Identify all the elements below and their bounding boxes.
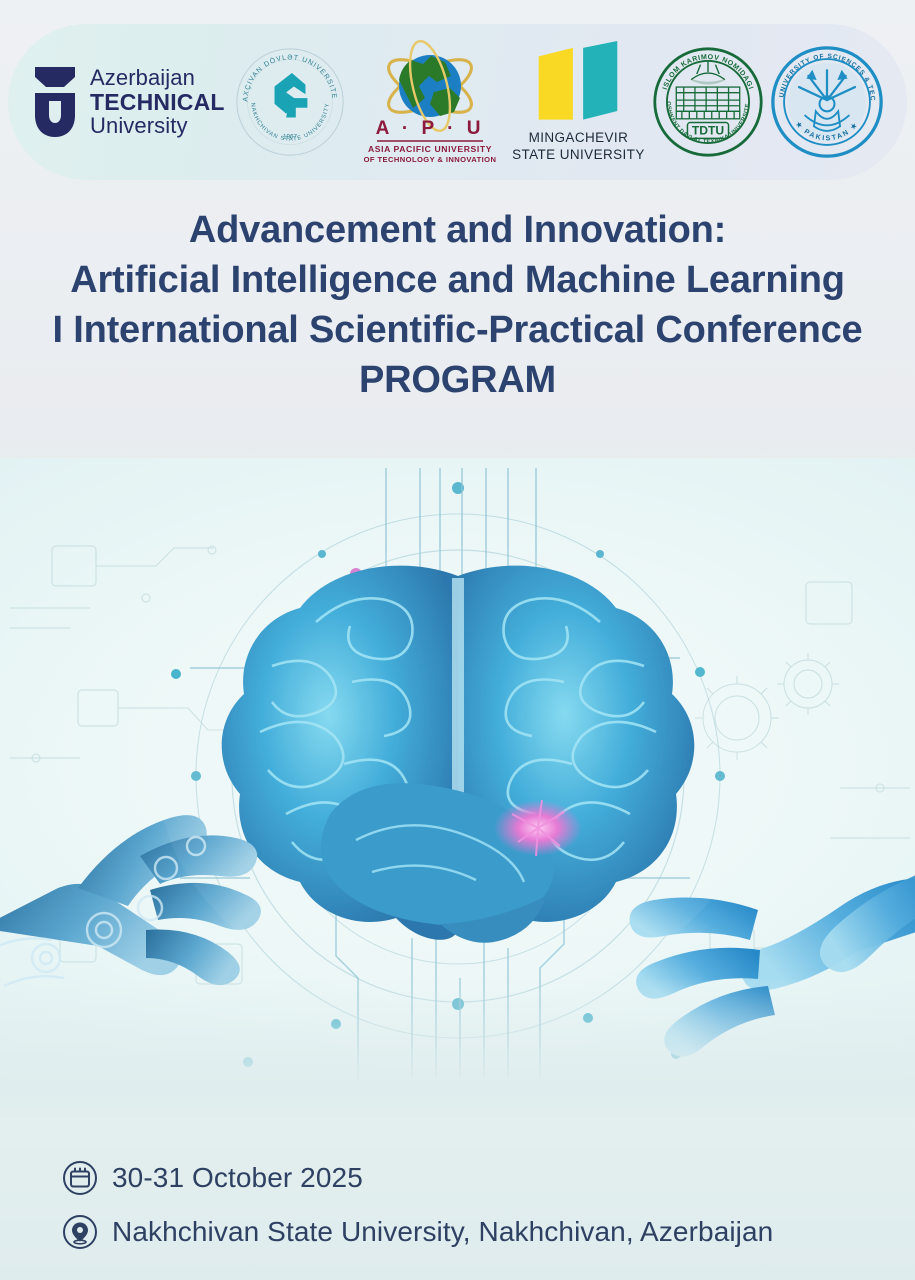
nust-seal-icon: NATIONAL UNIVERSITY OF SCIENCES & TECHNO… <box>771 46 883 158</box>
mgu-line-1: MINGACHEVIR <box>529 130 629 145</box>
atu-line-1: Azerbaijan <box>90 65 195 90</box>
title-line-1: Advancement and Innovation: <box>14 205 901 255</box>
apu-line-2: OF TECHNOLOGY & INNOVATION <box>364 155 497 164</box>
tdtu-acronym: TDTU <box>692 124 725 138</box>
mgu-line-2: STATE UNIVERSITY <box>512 147 645 162</box>
logo-asia-pacific-university: A · P · U ASIA PACIFIC UNIVERSITY OF TEC… <box>355 36 505 168</box>
logo-mingachevir-state-university: MINGACHEVIR STATE UNIVERSITY <box>512 36 645 168</box>
apu-line-1: ASIA PACIFIC UNIVERSITY <box>368 144 492 154</box>
conference-title: Advancement and Innovation: Artificial I… <box>0 205 915 405</box>
event-details: 30-31 October 2025 Nakhchivan State Univ… <box>62 1142 892 1250</box>
logo-tashkent-state-technical-university: ISLOM KARIMOV NOMIDAGI TOSHKENT DAVLAT T… <box>652 36 764 168</box>
event-date-row: 30-31 October 2025 <box>62 1160 892 1196</box>
atu-line-3: University <box>90 113 188 138</box>
hero-bottom-fade <box>0 978 915 1118</box>
nakhchivan-seal-icon: NAXÇIVAN DÖVLƏT UNIVERSITETI NAKHCHIVAN … <box>232 44 348 160</box>
atu-shield-icon <box>32 65 78 139</box>
apu-globe-icon: A · P · U ASIA PACIFIC UNIVERSITY OF TEC… <box>355 38 505 166</box>
svg-text:1967: 1967 <box>283 134 297 141</box>
tdtu-seal-icon: ISLOM KARIMOV NOMIDAGI TOSHKENT DAVLAT T… <box>652 46 764 158</box>
mingachevir-book-icon <box>524 41 632 123</box>
hero-illustration <box>0 458 915 1118</box>
calendar-icon <box>62 1160 98 1196</box>
logo-azerbaijan-technical-university: Azerbaijan TECHNICAL University <box>32 36 225 168</box>
logo-nust-pakistan: NATIONAL UNIVERSITY OF SCIENCES & TECHNO… <box>771 36 883 168</box>
atu-line-2: TECHNICAL <box>90 89 225 115</box>
logo-nakhchivan-state-university: NAXÇIVAN DÖVLƏT UNIVERSITETI NAKHCHIVAN … <box>232 36 348 168</box>
title-line-2: Artificial Intelligence and Machine Lear… <box>14 255 901 305</box>
event-date-text: 30-31 October 2025 <box>112 1162 363 1194</box>
conference-program-poster: Azerbaijan TECHNICAL University NAXÇIVAN… <box>0 0 915 1280</box>
title-line-4: PROGRAM <box>14 355 901 405</box>
title-line-3: I International Scientific-Practical Con… <box>14 305 901 355</box>
atu-wordmark: Azerbaijan TECHNICAL University <box>90 66 225 138</box>
apu-acronym: A · P · U <box>376 118 485 139</box>
event-location-text: Nakhchivan State University, Nakhchivan,… <box>112 1216 773 1248</box>
sponsor-logo-bar: Azerbaijan TECHNICAL University NAXÇIVAN… <box>8 24 907 180</box>
event-location-row: Nakhchivan State University, Nakhchivan,… <box>62 1214 892 1250</box>
map-pin-icon <box>62 1214 98 1250</box>
mingachevir-wordmark: MINGACHEVIR STATE UNIVERSITY <box>512 130 645 164</box>
